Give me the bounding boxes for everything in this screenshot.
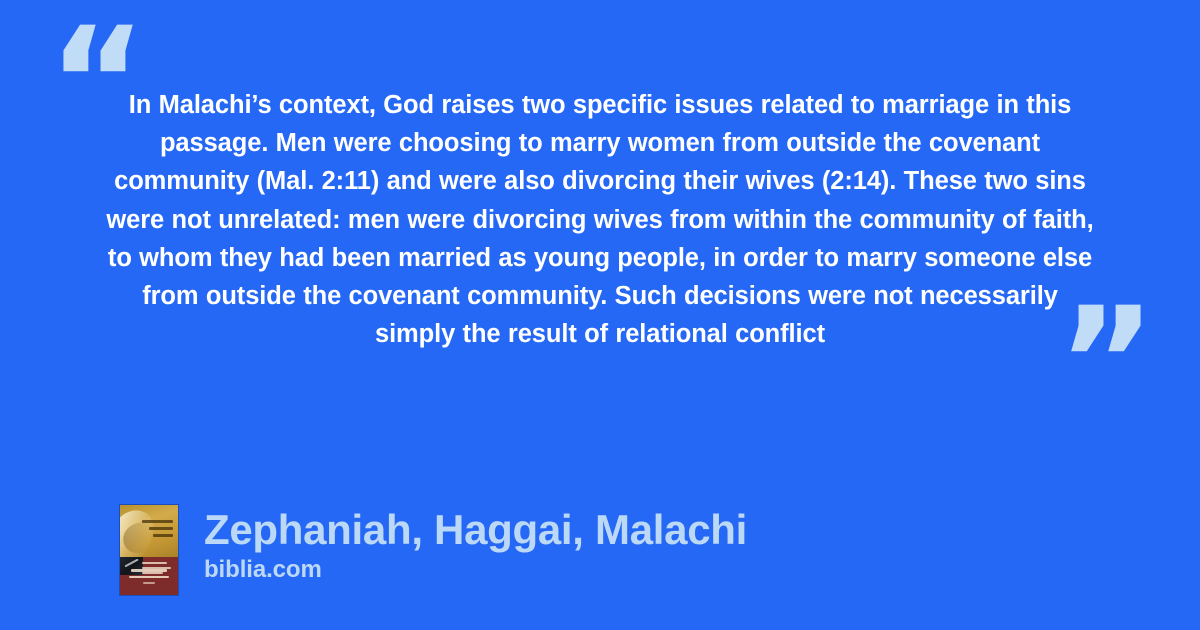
attribution-text: Zephaniah, Haggai, Malachi biblia.com — [204, 505, 747, 584]
book-cover-author-text — [120, 565, 178, 588]
quote-card: “ In Malachi’s context, God raises two s… — [0, 0, 1200, 630]
book-cover-thumbnail — [120, 505, 178, 595]
book-cover-top-panel — [120, 505, 178, 557]
closing-quote-icon: ” — [1057, 288, 1156, 438]
book-cover-bottom-panel — [120, 557, 178, 595]
attribution: Zephaniah, Haggai, Malachi biblia.com — [120, 505, 747, 595]
quote-body: In Malachi’s context, God raises two spe… — [100, 86, 1100, 353]
book-cover-title-text — [138, 516, 173, 541]
book-title: Zephaniah, Haggai, Malachi — [204, 507, 747, 553]
quote-text: In Malachi’s context, God raises two spe… — [100, 86, 1100, 353]
site-name: biblia.com — [204, 556, 747, 584]
